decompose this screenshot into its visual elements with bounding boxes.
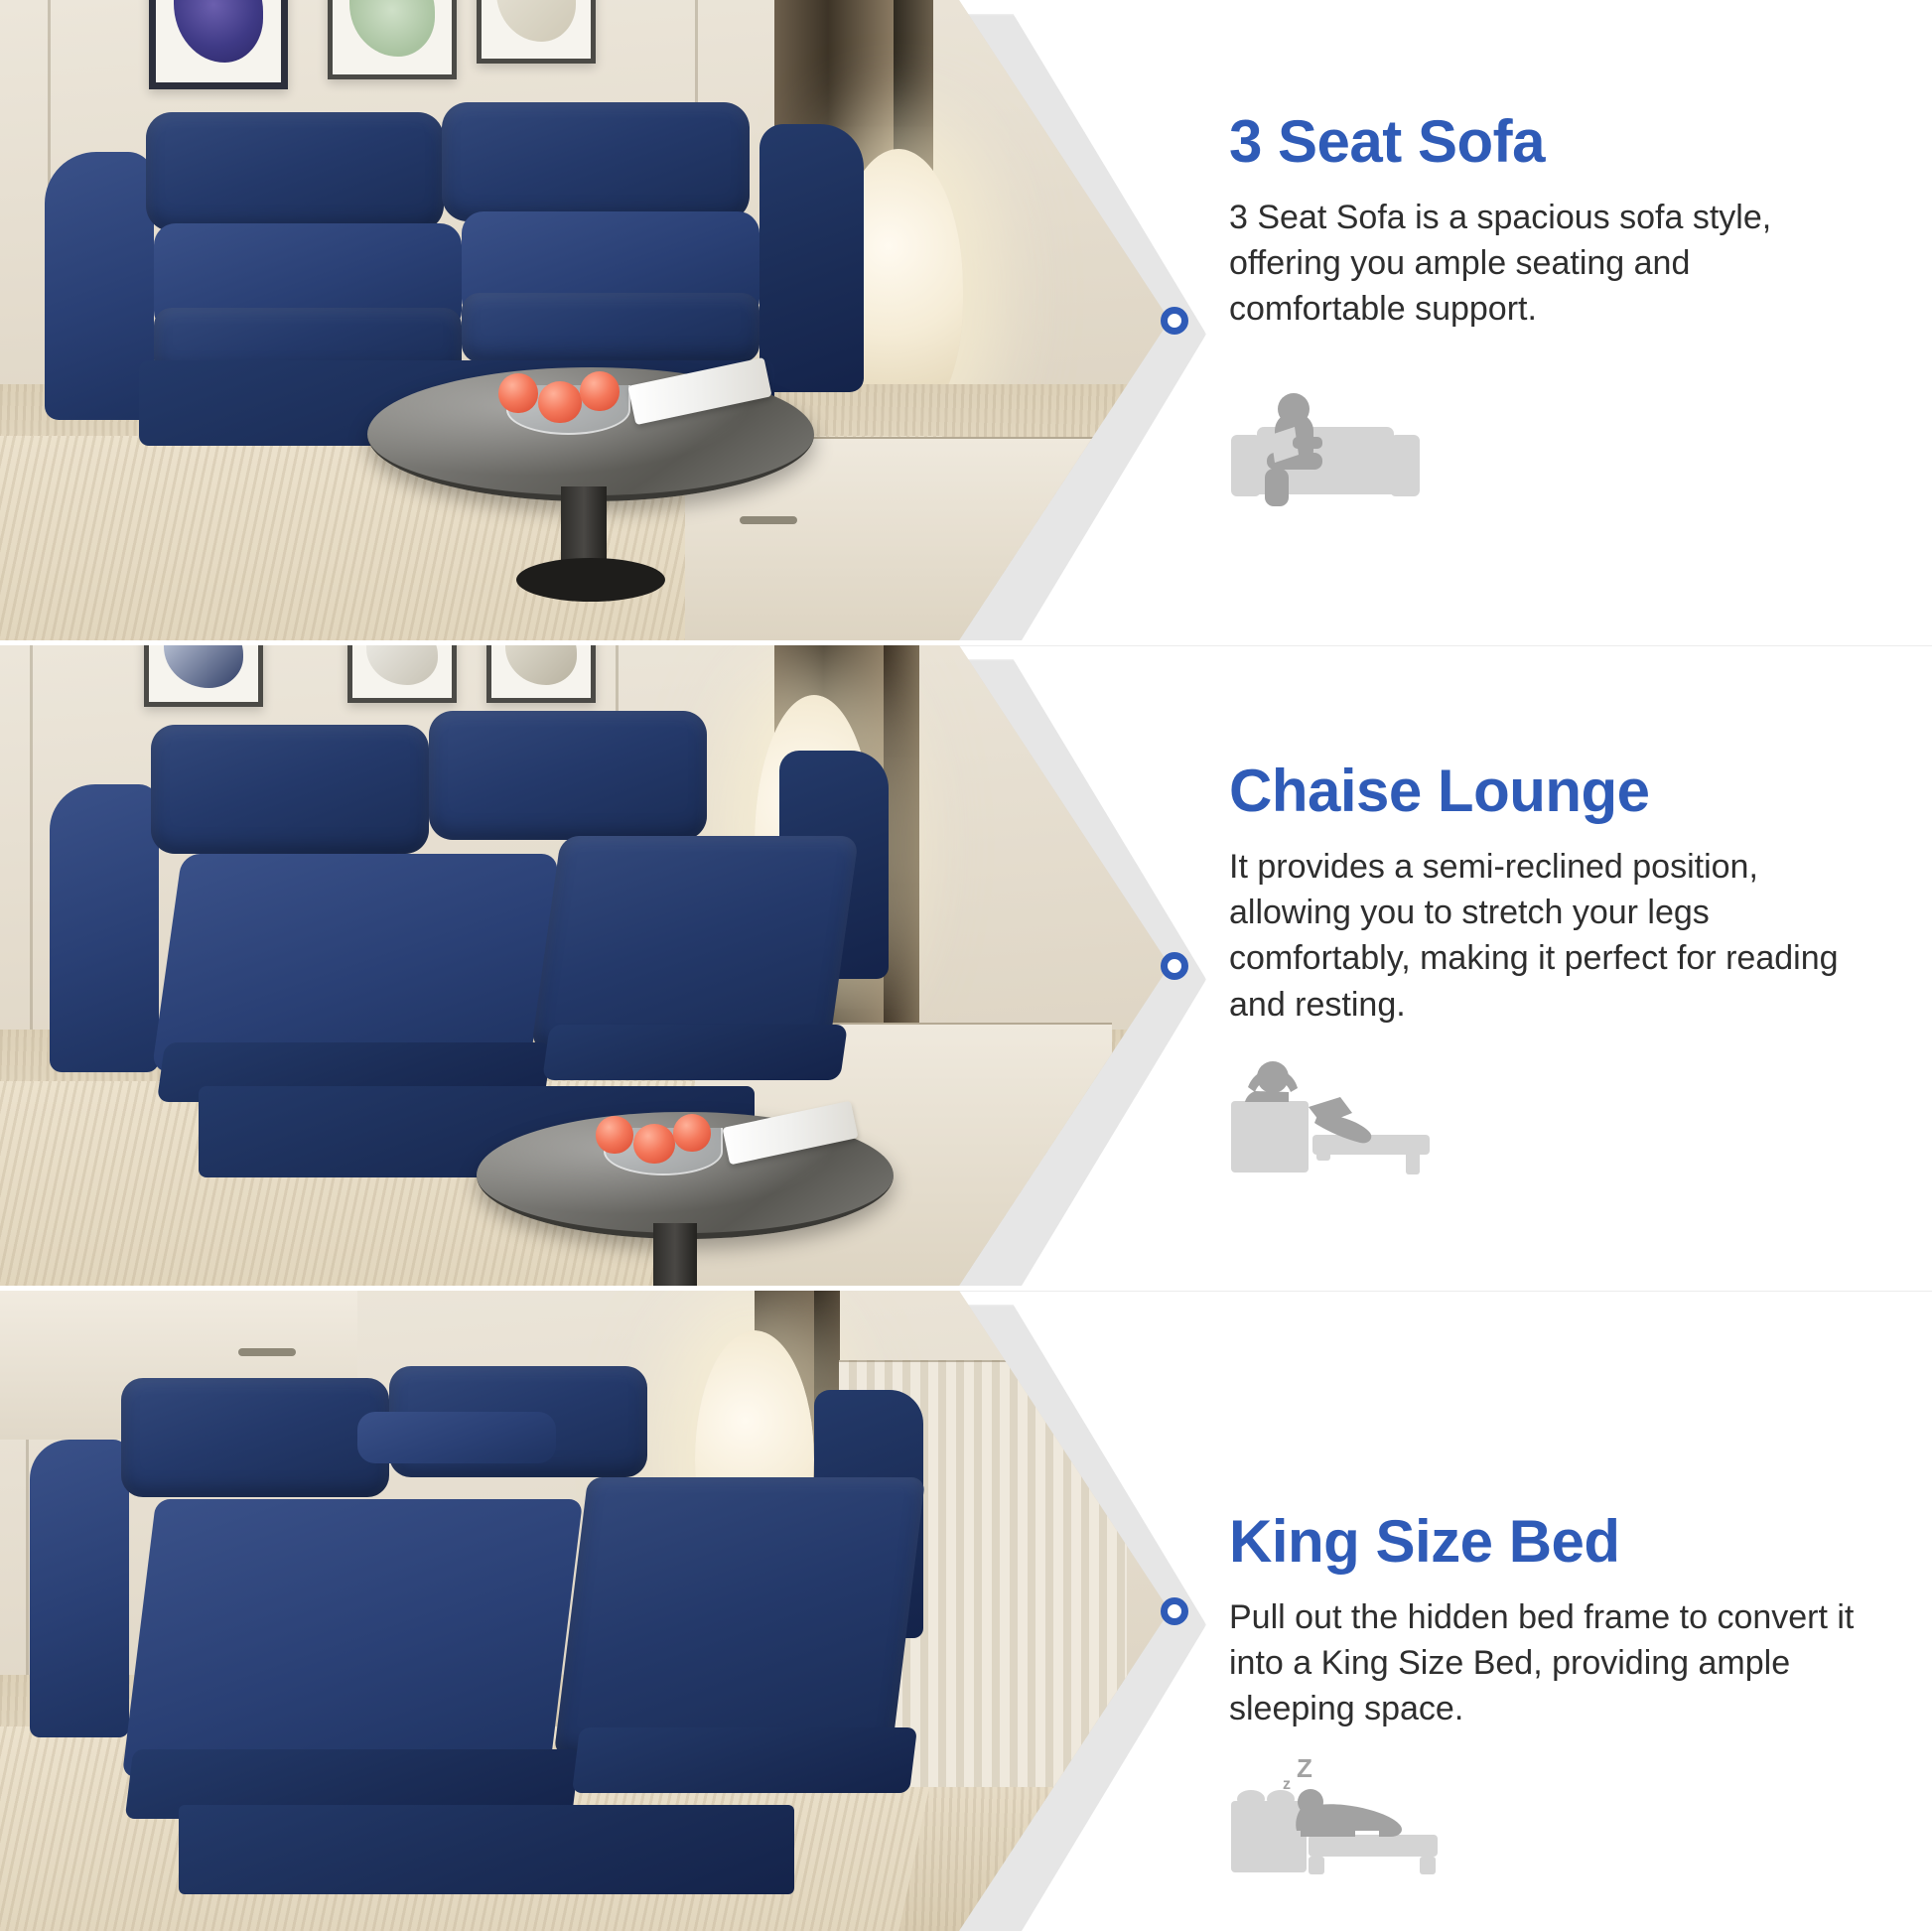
person-reading-on-sofa-icon [1231, 393, 1440, 512]
product-photo-chaise-lounge [0, 645, 1170, 1286]
panel-body-text: 3 Seat Sofa is a spacious sofa style, of… [1229, 195, 1864, 333]
svg-text:Z: Z [1297, 1753, 1312, 1783]
infographic-page: 3 Seat Sofa 3 Seat Sofa is a spacious so… [0, 0, 1932, 1932]
panel-heading: Chaise Lounge [1229, 757, 1650, 825]
feature-text-king-size-bed: King Size Bed Pull out the hidden bed fr… [1221, 1291, 1932, 1931]
blue-ring-bullet [1161, 952, 1188, 980]
feature-panel-three-seat-sofa: 3 Seat Sofa 3 Seat Sofa is a spacious so… [0, 0, 1932, 640]
panel-heading: King Size Bed [1229, 1507, 1620, 1576]
person-sleeping-on-bed-icon: Z z [1231, 1747, 1454, 1881]
product-photo-three-seat-sofa [0, 0, 1170, 640]
panel-body-text: It provides a semi-reclined position, al… [1229, 844, 1864, 1028]
person-reclining-on-chaise-icon [1231, 1057, 1445, 1181]
blue-ring-bullet [1161, 1597, 1188, 1625]
feature-panel-king-size-bed: King Size Bed Pull out the hidden bed fr… [0, 1291, 1932, 1931]
feature-text-three-seat-sofa: 3 Seat Sofa 3 Seat Sofa is a spacious so… [1221, 0, 1932, 640]
feature-text-chaise-lounge: Chaise Lounge It provides a semi-recline… [1221, 645, 1932, 1286]
product-photo-king-size-bed [0, 1291, 1170, 1931]
panel-heading: 3 Seat Sofa [1229, 107, 1545, 176]
blue-ring-bullet [1161, 307, 1188, 335]
panel-body-text: Pull out the hidden bed frame to convert… [1229, 1594, 1864, 1732]
feature-panel-chaise-lounge: Chaise Lounge It provides a semi-recline… [0, 645, 1932, 1286]
